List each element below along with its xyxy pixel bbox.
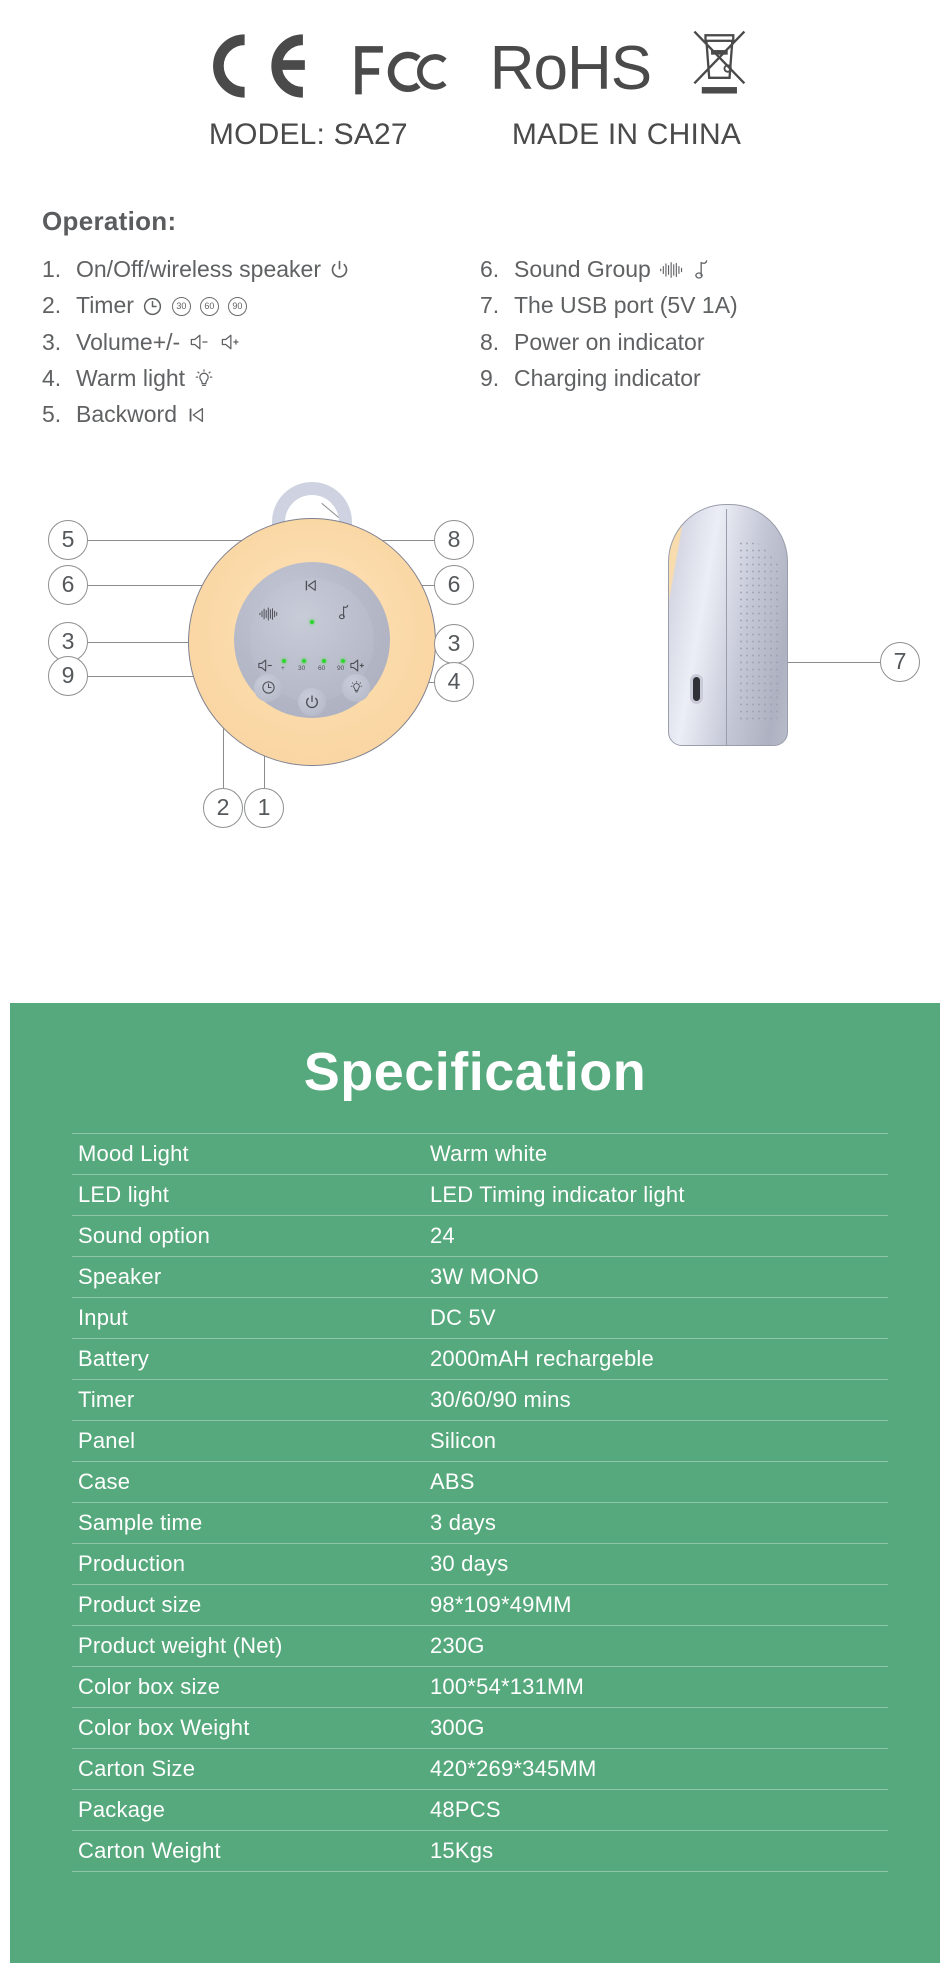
operation-item-5: 5. Backword xyxy=(42,398,420,431)
timer-led-60 xyxy=(322,659,326,663)
callout-4: 4 xyxy=(434,662,474,702)
table-row: Package48PCS xyxy=(72,1790,888,1831)
table-row: Production30 days xyxy=(72,1544,888,1585)
spec-value: 230G xyxy=(424,1626,888,1667)
spec-key: LED light xyxy=(72,1175,424,1216)
operation-item-6: 6. Sound Group xyxy=(480,253,860,286)
timer-led-label-30: 30 xyxy=(298,665,305,672)
table-row: Color box size100*54*131MM xyxy=(72,1667,888,1708)
item-label: The USB port (5V 1A) xyxy=(514,289,738,322)
timer-90-icon: 90 xyxy=(228,297,247,316)
table-row: Carton Weight15Kgs xyxy=(72,1831,888,1872)
item-number: 8. xyxy=(480,326,514,359)
operation-item-2: 2. Timer 30 60 90 xyxy=(42,289,420,322)
spec-key: Timer xyxy=(72,1380,424,1421)
spec-key: Product size xyxy=(72,1585,424,1626)
usb-c-port xyxy=(690,674,703,704)
operation-item-9: 9. Charging indicator xyxy=(480,362,860,395)
ce-icon xyxy=(198,32,315,100)
timer-30-icon: 30 xyxy=(172,297,191,316)
table-row: Carton Size420*269*345MM xyxy=(72,1749,888,1790)
spec-value: 420*269*345MM xyxy=(424,1749,888,1790)
rohs-label: RoHS xyxy=(490,38,651,100)
table-row: Mood LightWarm white xyxy=(72,1134,888,1175)
timer-led-label-plus: + xyxy=(281,665,285,672)
spec-key: Battery xyxy=(72,1339,424,1380)
waveform-icon xyxy=(659,261,685,279)
table-row: Sample time3 days xyxy=(72,1503,888,1544)
table-row: Battery2000mAH rechargeble xyxy=(72,1339,888,1380)
callout-8: 8 xyxy=(434,520,474,560)
table-row: PanelSilicon xyxy=(72,1421,888,1462)
item-label: Charging indicator xyxy=(514,362,701,395)
timer-led-label-90: 90 xyxy=(337,665,344,672)
spec-value: 15Kgs xyxy=(424,1831,888,1872)
table-row: InputDC 5V xyxy=(72,1298,888,1339)
model-text: MODEL: SA27 xyxy=(209,118,408,152)
item-label: Backword xyxy=(76,398,177,431)
panel-skip-back-icon xyxy=(302,578,319,593)
specification-title: Specification xyxy=(10,1003,940,1103)
panel-volume-down-icon xyxy=(256,658,274,673)
item-number: 5. xyxy=(42,398,76,431)
spec-value: 30/60/90 mins xyxy=(424,1380,888,1421)
timer-led-plus xyxy=(282,659,286,663)
control-panel: + 30 60 90 xyxy=(234,562,390,718)
panel-bulb-icon xyxy=(349,680,364,695)
panel-power-icon xyxy=(304,694,320,710)
callout-5: 5 xyxy=(48,520,88,560)
table-row: Product size98*109*49MM xyxy=(72,1585,888,1626)
timer-led-label-60: 60 xyxy=(318,665,325,672)
specification-table: Mood LightWarm whiteLED lightLED Timing … xyxy=(72,1133,888,1872)
origin-text: MADE IN CHINA xyxy=(512,118,741,152)
spec-value: DC 5V xyxy=(424,1298,888,1339)
operation-list-left: 1. On/Off/wireless speaker 2. Timer xyxy=(42,253,420,432)
spec-key: Carton Size xyxy=(72,1749,424,1790)
volume-up-icon xyxy=(219,332,241,352)
warm-light-button[interactable] xyxy=(342,674,370,702)
table-row: CaseABS xyxy=(72,1462,888,1503)
spec-key: Speaker xyxy=(72,1257,424,1298)
panel-music-note-icon xyxy=(338,604,352,621)
music-note-icon xyxy=(694,259,712,281)
table-row: Product weight (Net)230G xyxy=(72,1626,888,1667)
power-button[interactable] xyxy=(298,688,326,716)
item-label: Volume+/- xyxy=(76,326,180,359)
spec-value: 48PCS xyxy=(424,1790,888,1831)
spec-key: Production xyxy=(72,1544,424,1585)
item-label: Power on indicator xyxy=(514,326,705,359)
weee-bin-icon xyxy=(687,26,752,100)
item-number: 1. xyxy=(42,253,76,286)
spec-key: Panel xyxy=(72,1421,424,1462)
table-row: LED lightLED Timing indicator light xyxy=(72,1175,888,1216)
table-row: Speaker3W MONO xyxy=(72,1257,888,1298)
item-number: 7. xyxy=(480,289,514,322)
spec-key: Case xyxy=(72,1462,424,1503)
spec-key: Sound option xyxy=(72,1216,424,1257)
item-label: Sound Group xyxy=(514,253,651,286)
spec-value: ABS xyxy=(424,1462,888,1503)
spec-value: 3W MONO xyxy=(424,1257,888,1298)
operation-title: Operation: xyxy=(42,206,910,237)
spec-value: 2000mAH rechargeble xyxy=(424,1339,888,1380)
spec-key: Color box size xyxy=(72,1667,424,1708)
spec-value: 3 days xyxy=(424,1503,888,1544)
spec-key: Carton Weight xyxy=(72,1831,424,1872)
speaker-grille xyxy=(738,540,782,720)
certification-header: RoHS xyxy=(0,0,950,100)
timer-led-30 xyxy=(302,659,306,663)
device-side-view xyxy=(668,504,788,746)
item-number: 4. xyxy=(42,362,76,395)
product-diagram: 5 6 3 9 8 6 3 4 2 1 7 xyxy=(0,464,950,844)
fcc-icon xyxy=(351,40,454,100)
callout-6-left: 6 xyxy=(48,565,88,605)
callout-1: 1 xyxy=(244,788,284,828)
leader-line-3 xyxy=(88,642,202,643)
operation-section: Operation: 1. On/Off/wireless speaker 2.… xyxy=(42,206,910,432)
spec-key: Color box Weight xyxy=(72,1708,424,1749)
skip-back-icon xyxy=(185,405,207,425)
spec-value: Warm white xyxy=(424,1134,888,1175)
table-row: Sound option24 xyxy=(72,1216,888,1257)
spec-value: 100*54*131MM xyxy=(424,1667,888,1708)
device-front-view: + 30 60 90 xyxy=(188,482,436,772)
specification-section: Specification Mood LightWarm whiteLED li… xyxy=(10,1003,940,1963)
spec-value: 98*109*49MM xyxy=(424,1585,888,1626)
timer-button[interactable] xyxy=(254,674,282,702)
spec-value: Silicon xyxy=(424,1421,888,1462)
panel-clock-icon xyxy=(261,680,276,695)
spec-key: Product weight (Net) xyxy=(72,1626,424,1667)
bulb-icon xyxy=(193,368,215,390)
item-label: On/Off/wireless speaker xyxy=(76,253,321,286)
spec-value: 300G xyxy=(424,1708,888,1749)
item-number: 9. xyxy=(480,362,514,395)
clock-icon xyxy=(142,296,163,317)
leader-line-9 xyxy=(88,676,200,677)
callout-9: 9 xyxy=(48,656,88,696)
callout-6-right: 6 xyxy=(434,565,474,605)
panel-volume-up-icon xyxy=(348,658,366,673)
spec-key: Package xyxy=(72,1790,424,1831)
operation-item-8: 8. Power on indicator xyxy=(480,326,860,359)
callout-3-right: 3 xyxy=(434,624,474,664)
spec-key: Sample time xyxy=(72,1503,424,1544)
callout-7: 7 xyxy=(880,642,920,682)
spec-key: Input xyxy=(72,1298,424,1339)
item-number: 3. xyxy=(42,326,76,359)
item-number: 2. xyxy=(42,289,76,322)
spec-value: 30 days xyxy=(424,1544,888,1585)
timer-60-icon: 60 xyxy=(200,297,219,316)
operation-item-4: 4. Warm light xyxy=(42,362,420,395)
item-label: Timer xyxy=(76,289,134,322)
operation-item-1: 1. On/Off/wireless speaker xyxy=(42,253,420,286)
spec-value: 24 xyxy=(424,1216,888,1257)
operation-item-3: 3. Volume+/- xyxy=(42,326,420,359)
timer-led-90 xyxy=(341,659,345,663)
item-label: Warm light xyxy=(76,362,185,395)
device-seam xyxy=(726,509,727,745)
power-icon xyxy=(329,259,350,280)
model-origin-row: MODEL: SA27 MADE IN CHINA xyxy=(0,118,950,152)
spec-value: LED Timing indicator light xyxy=(424,1175,888,1216)
operation-list-right: 6. Sound Group xyxy=(480,253,860,432)
callout-2: 2 xyxy=(203,788,243,828)
item-number: 6. xyxy=(480,253,514,286)
volume-down-icon xyxy=(188,332,210,352)
power-led xyxy=(310,620,314,624)
table-row: Color box Weight300G xyxy=(72,1708,888,1749)
spec-key: Mood Light xyxy=(72,1134,424,1175)
table-row: Timer30/60/90 mins xyxy=(72,1380,888,1421)
panel-waveform-icon xyxy=(258,607,280,621)
operation-item-7: 7. The USB port (5V 1A) xyxy=(480,289,860,322)
